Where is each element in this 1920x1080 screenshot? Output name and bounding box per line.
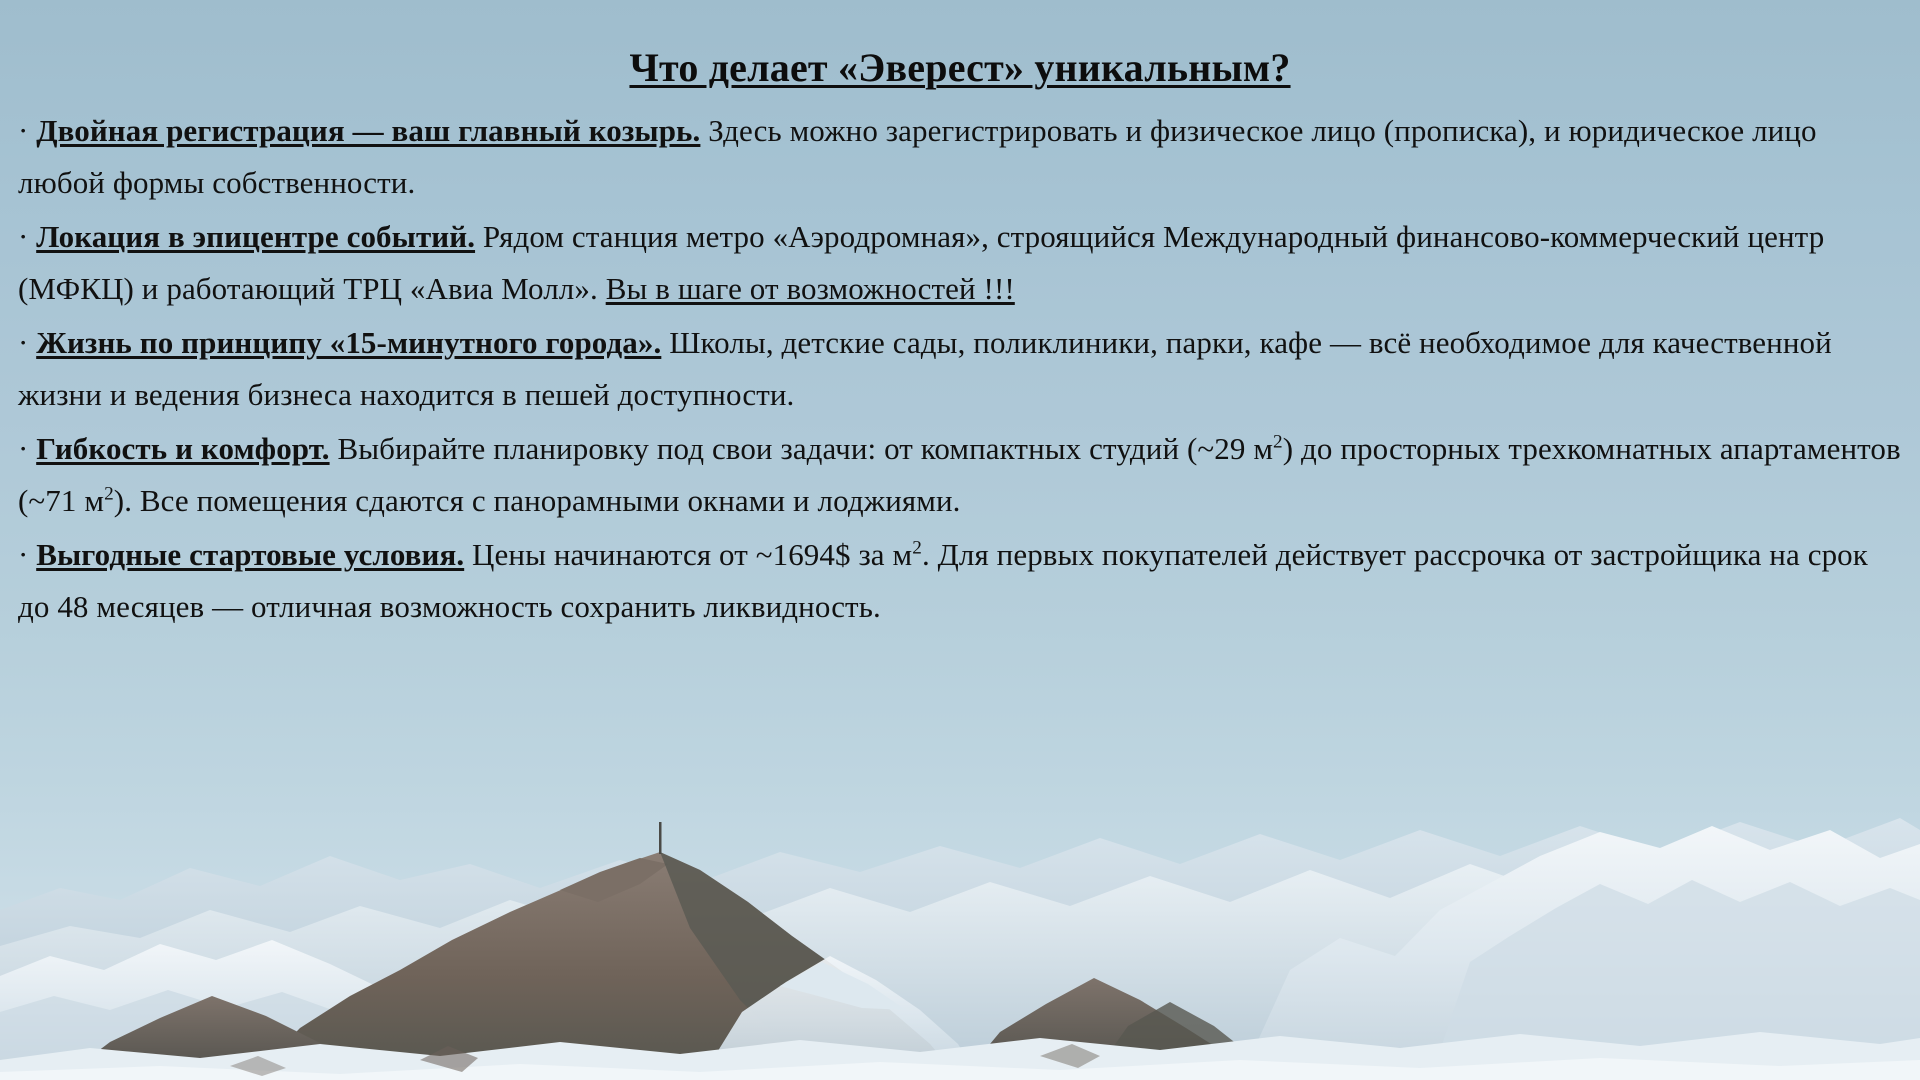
bullet-marker: · [18, 325, 28, 360]
bullet-item-fifteen-minute-city: · Жизнь по принципу «15-минутного города… [18, 317, 1902, 421]
slide-canvas: Что делает «Эверест» уникальным? · Двойн… [0, 0, 1920, 1080]
bullet-item-location: · Локация в эпицентре событий. Рядом ста… [18, 211, 1902, 315]
superscript-square: 2 [104, 484, 114, 505]
bullet-marker: · [18, 219, 28, 254]
superscript-square: 2 [912, 538, 922, 559]
page-title: Что делает «Эверест» уникальным? [18, 44, 1902, 91]
bullet-item-starting-conditions: · Выгодные стартовые условия. Цены начин… [18, 529, 1902, 633]
bullet-lead-label: Выгодные стартовые условия. [36, 537, 464, 572]
bullet-highlight-text: Вы в шаге от возможностей !!! [606, 271, 1015, 306]
bullet-marker: · [18, 431, 28, 466]
bullet-marker: · [18, 113, 28, 148]
bullet-body-text-part1: Цены начинаются от ~1694$ за м [472, 537, 912, 572]
bullet-body-text-part1: Выбирайте планировку под свои задачи: от… [337, 431, 1273, 466]
bullet-lead-label: Гибкость и комфорт. [36, 431, 329, 466]
bullet-lead-label: Жизнь по принципу «15-минутного города». [36, 325, 661, 360]
bullet-body-text-part3: ). Все помещения сдаются с панорамными о… [114, 483, 961, 518]
mountain-photo [0, 760, 1920, 1080]
bullet-item-dual-registration: · Двойная регистрация — ваш главный козы… [18, 105, 1902, 209]
slide-content: Что делает «Эверест» уникальным? · Двойн… [0, 0, 1920, 635]
bullet-item-flexibility-comfort: · Гибкость и комфорт. Выбирайте планиров… [18, 423, 1902, 527]
bullet-marker: · [18, 537, 28, 572]
superscript-square: 2 [1273, 432, 1283, 453]
bullet-lead-label: Двойная регистрация — ваш главный козырь… [36, 113, 700, 148]
bullet-lead-label: Локация в эпицентре событий. [36, 219, 475, 254]
